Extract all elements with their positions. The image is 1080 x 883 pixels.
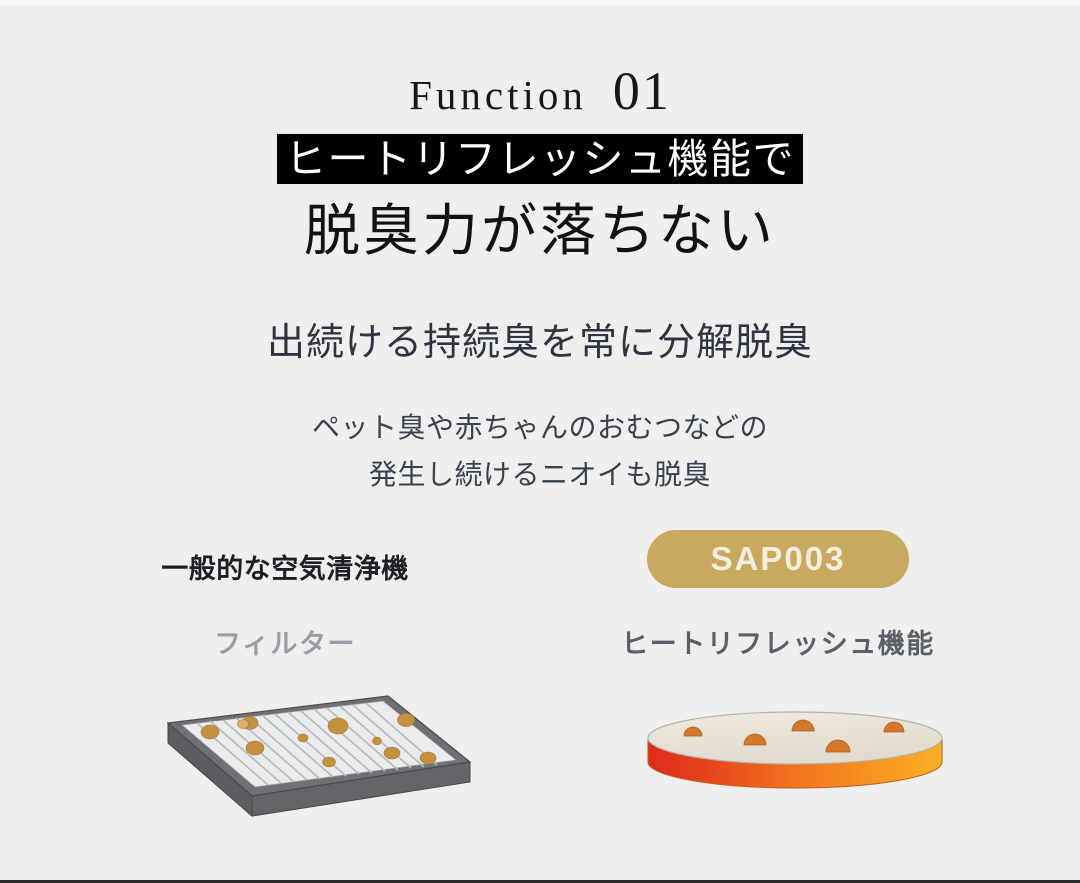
sap003-subtitle: ヒートリフレッシュ機能 — [563, 622, 993, 661]
banner-container: ヒートリフレッシュ機能で — [0, 134, 1080, 184]
body-copy: ペット臭や赤ちゃんのおむつなどの 発生し続けるニオイも脱臭 — [0, 404, 1080, 498]
body-copy-line-2: 発生し続けるニオイも脱臭 — [0, 451, 1080, 498]
eyebrow-function-number: Function01 — [0, 60, 1080, 122]
page-title: 脱臭力が落ちない — [0, 196, 1080, 268]
conventional-title: 一般的な空気清浄機 — [70, 546, 500, 592]
banner-highlight-text: ヒートリフレッシュ機能で — [277, 134, 803, 184]
comparison-column-conventional: 一般的な空気清浄機 フィルター — [70, 530, 500, 661]
conventional-subtitle: フィルター — [70, 622, 500, 661]
top-edge-strip — [0, 0, 1080, 5]
eyebrow-word: Function — [409, 72, 587, 118]
pleated-filter-tray-icon — [140, 690, 480, 820]
function-01-feature-panel: Function01 ヒートリフレッシュ機能で 脱臭力が落ちない 出続ける持続臭… — [0, 0, 1080, 883]
status-badge: SAP003 — [647, 530, 910, 588]
badge-row: SAP003 — [563, 530, 993, 592]
subheading: 出続ける持続臭を常に分解脱臭 — [0, 318, 1080, 368]
body-copy-line-1: ペット臭や赤ちゃんのおむつなどの — [0, 404, 1080, 451]
eyebrow-number: 01 — [613, 61, 671, 121]
comparison-column-sap003: SAP003 ヒートリフレッシュ機能 — [563, 530, 993, 661]
heated-catalyst-disc-icon — [640, 700, 950, 810]
